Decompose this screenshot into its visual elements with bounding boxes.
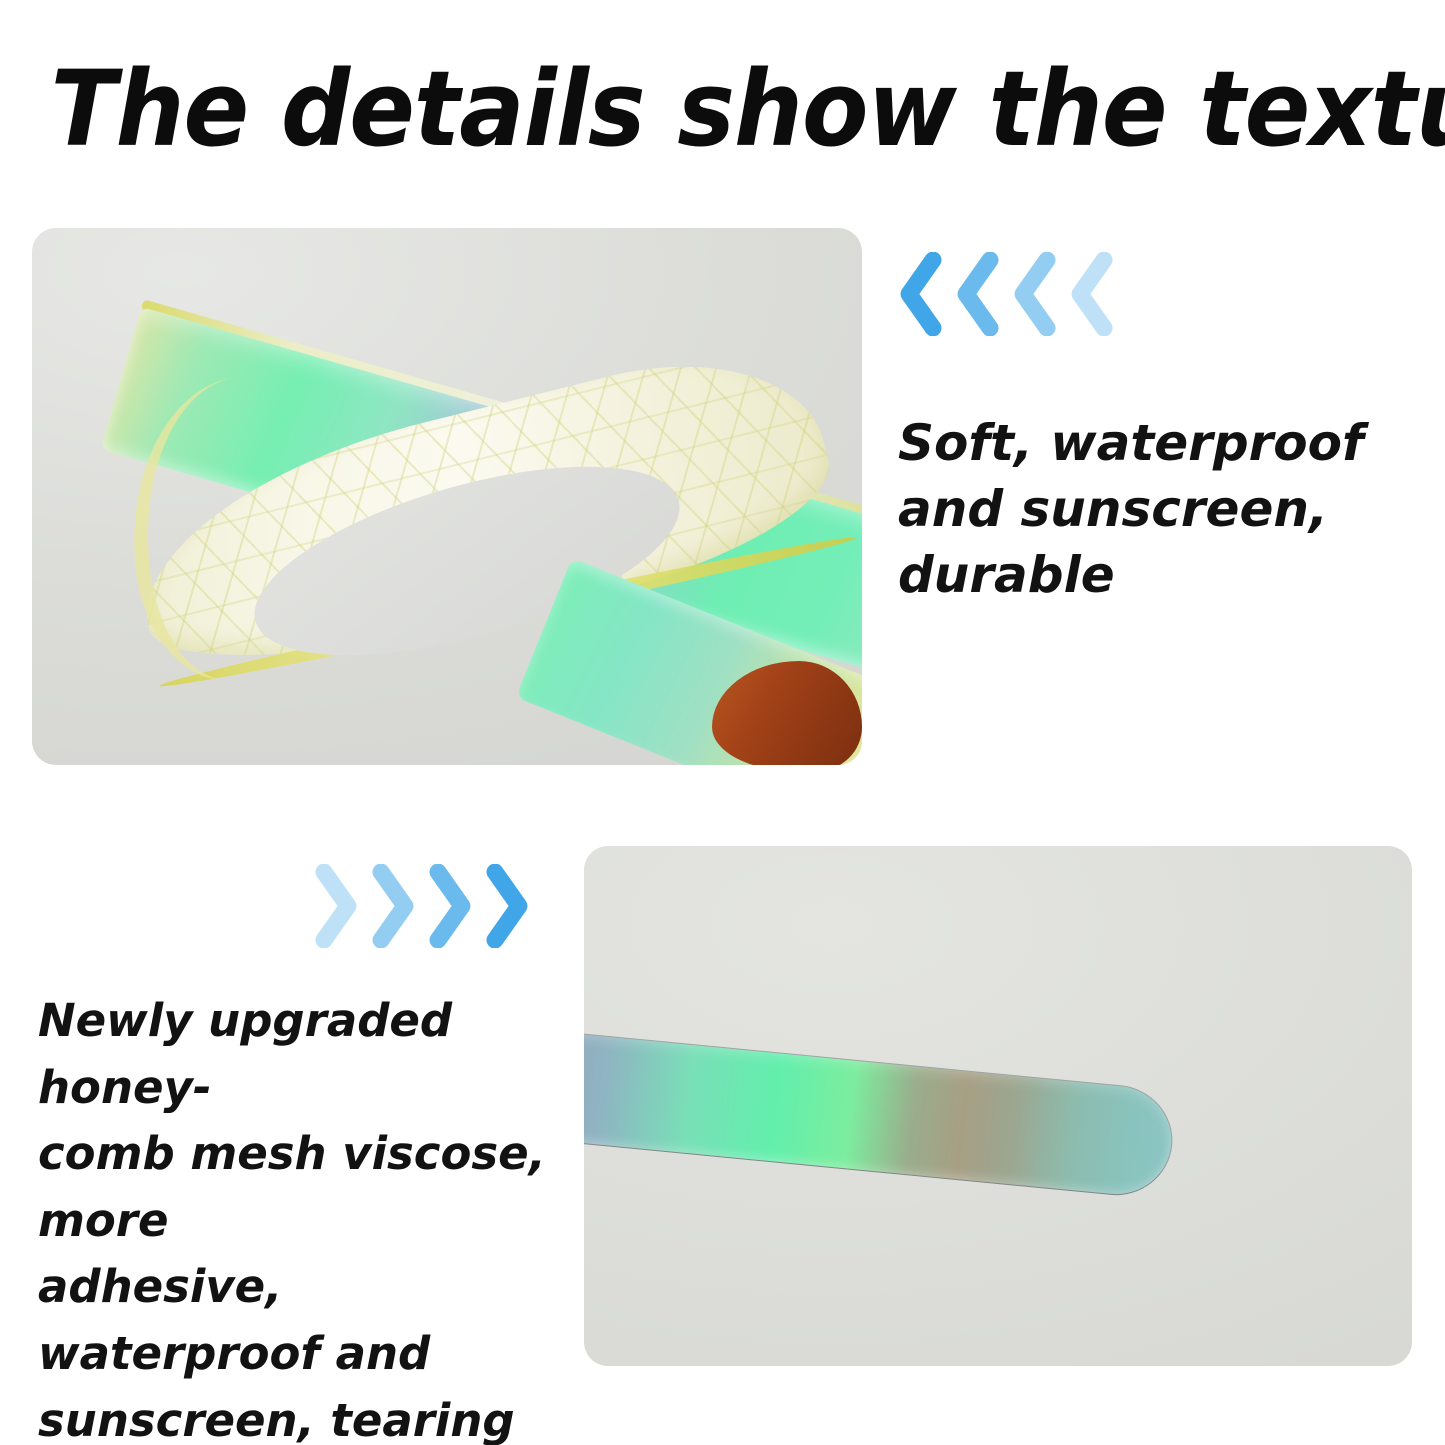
- product-photo-strip-closeup: [584, 846, 1412, 1366]
- chevron-left-icon: [893, 252, 949, 336]
- page-title: The details show the texture: [51, 52, 1395, 166]
- chevron-right-icon: [363, 864, 419, 948]
- chevron-left-icon: [1064, 252, 1120, 336]
- chevron-left-arrows: [893, 252, 1120, 336]
- chevron-right-icon: [477, 864, 533, 948]
- chevron-right-icon: [420, 864, 476, 948]
- chevron-left-icon: [950, 252, 1006, 336]
- chevron-right-icon: [306, 864, 362, 948]
- caption-honeycomb-mesh: Newly upgraded honey- comb mesh viscose,…: [38, 988, 568, 1445]
- product-photo-tape-loop: [32, 228, 862, 765]
- chevron-right-arrows: [306, 864, 533, 948]
- chevron-left-icon: [1007, 252, 1063, 336]
- caption-soft-waterproof: Soft, waterproof and sunscreen, durable: [898, 410, 1398, 608]
- holographic-strip: [584, 1032, 1176, 1199]
- infographic-page: The details show the texture Soft,: [0, 0, 1445, 1445]
